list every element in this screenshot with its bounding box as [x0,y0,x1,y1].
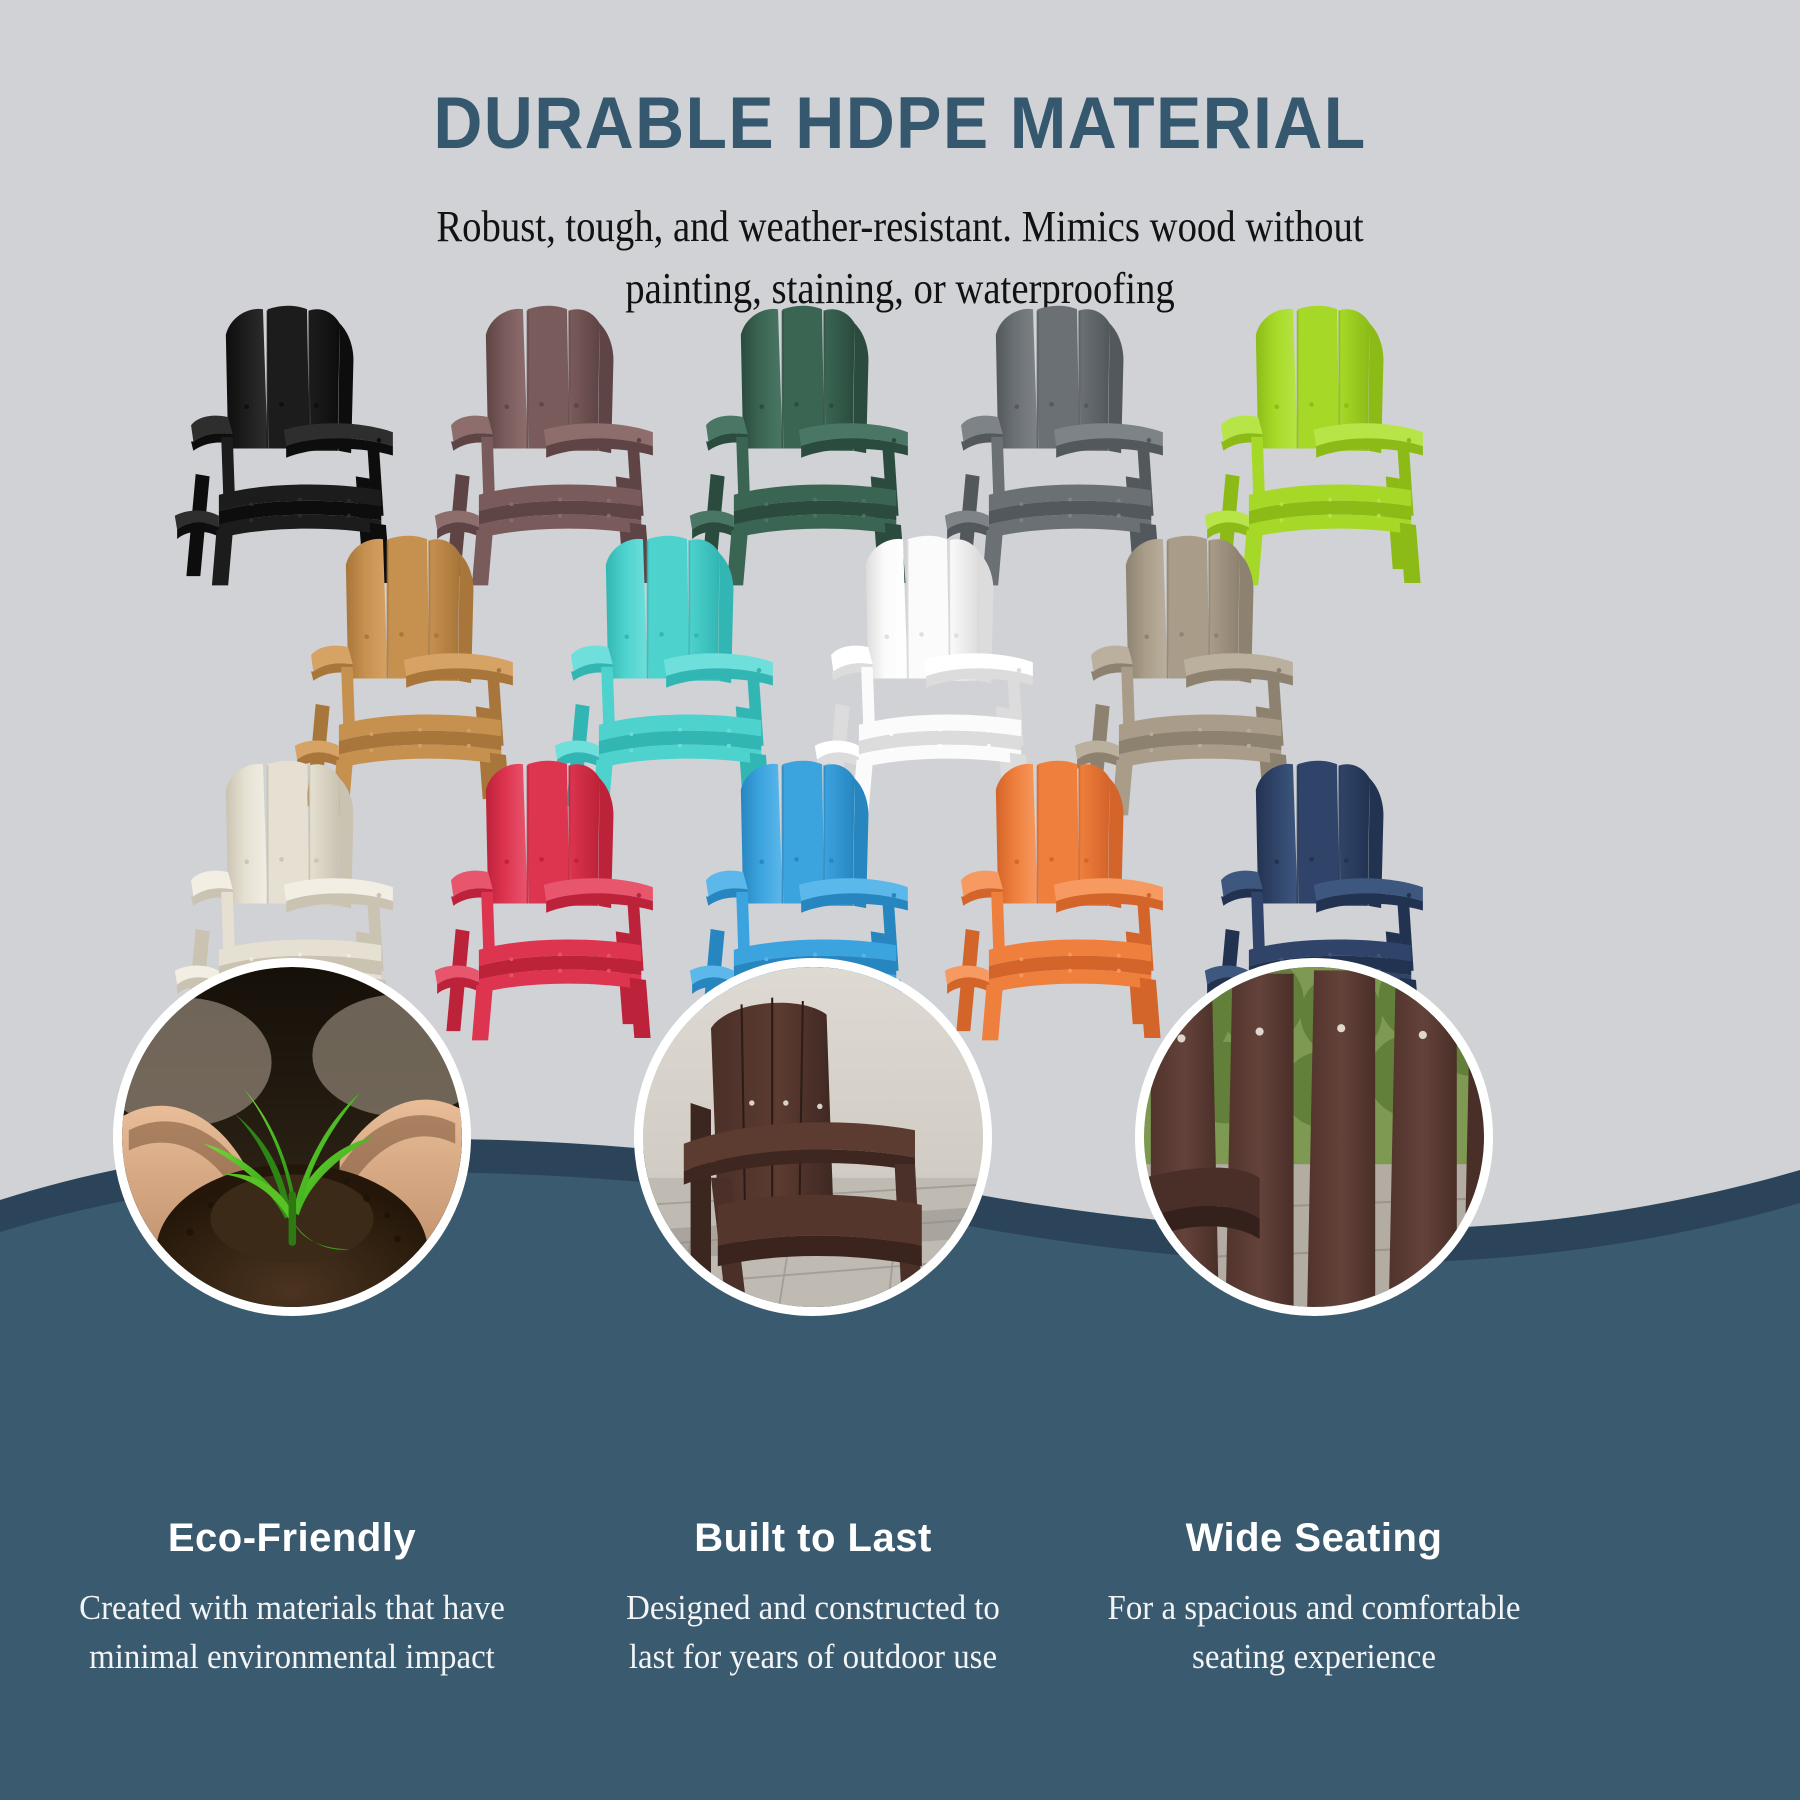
feature-heading: Eco-Friendly [32,1516,552,1561]
brown-chair-on-patio-image [643,967,983,1307]
seedling-in-hands-image [122,967,462,1307]
photo-built-to-last [634,958,992,1316]
photo-eco-friendly [113,958,471,1316]
feature-body: Created with materials that have minimal… [48,1583,537,1681]
feature-built-to-last: Built to Last Designed and constructed t… [553,1516,1073,1681]
feature-body: Designed and constructed to last for yea… [569,1583,1058,1681]
feature-eco-friendly: Eco-Friendly Created with materials that… [32,1516,552,1681]
infographic-canvas: DURABLE HDPE MATERIAL Robust, tough, and… [0,0,1800,1800]
chair-seat-slats [477,940,642,994]
photo-wide-seating [1135,958,1493,1316]
chair-slats-closeup-image [1144,967,1484,1307]
feature-wide-seating: Wide Seating For a spacious and comforta… [1054,1516,1574,1681]
feature-body-line-1: Created with materials that have [48,1583,537,1632]
feature-body-line-1: For a spacious and comfortable [1070,1583,1559,1632]
feature-body-line-1: Designed and constructed to [569,1583,1058,1632]
page-title: DURABLE HDPE MATERIAL [63,82,1737,165]
feature-body-line-2: seating experience [1070,1632,1559,1681]
chair-seat-slats [987,940,1152,994]
feature-body: For a spacious and comfortable seating e… [1070,1583,1559,1681]
subtitle-line-1: Robust, tough, and weather-resistant. Mi… [108,196,1692,258]
feature-heading: Wide Seating [1054,1516,1574,1561]
feature-body-line-2: minimal environmental impact [48,1632,537,1681]
feature-body-line-2: last for years of outdoor use [569,1632,1058,1681]
feature-heading: Built to Last [553,1516,1073,1561]
